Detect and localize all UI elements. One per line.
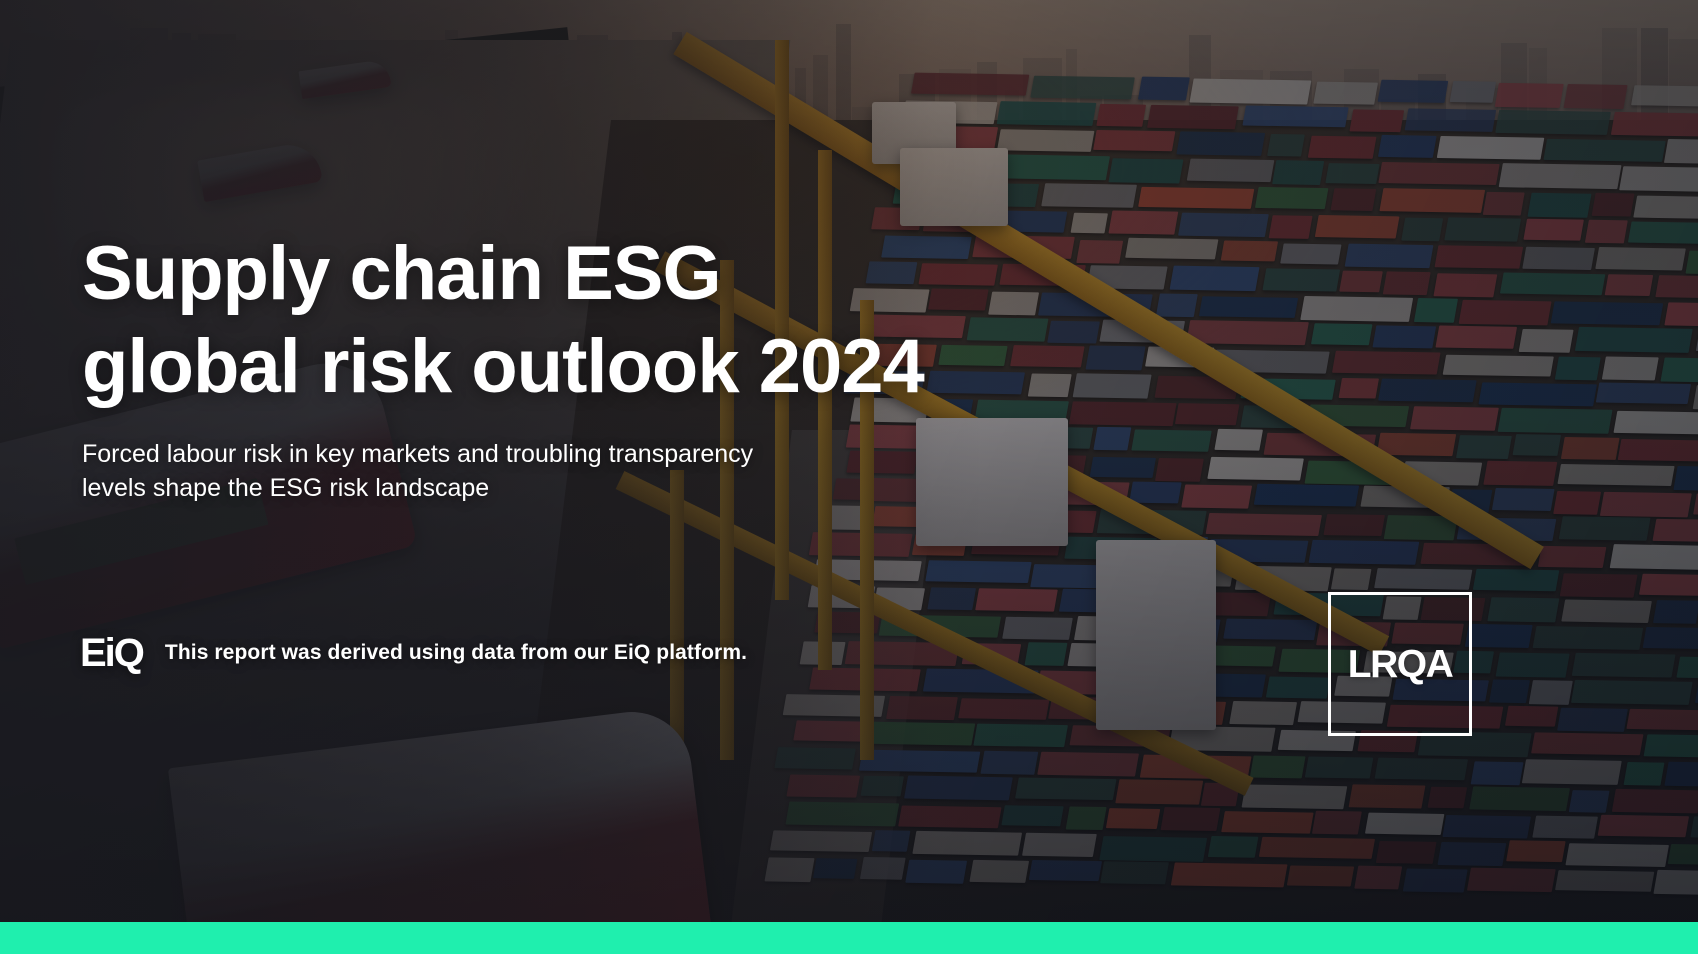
- eiq-logo: EiQ: [80, 633, 143, 673]
- lrqa-logo-box: LRQA: [1328, 592, 1472, 736]
- lrqa-logo: LRQA: [1348, 645, 1453, 684]
- cover-content: Supply chain ESG global risk outlook 202…: [0, 0, 1698, 954]
- report-cover-page: Supply chain ESG global risk outlook 202…: [0, 0, 1698, 954]
- eiq-attribution-note: This report was derived using data from …: [165, 641, 747, 665]
- accent-bottom-bar: [0, 922, 1698, 954]
- eiq-attribution: EiQ This report was derived using data f…: [80, 633, 747, 673]
- page-subtitle: Forced labour risk in key markets and tr…: [82, 438, 753, 505]
- page-title: Supply chain ESG global risk outlook 202…: [82, 228, 924, 413]
